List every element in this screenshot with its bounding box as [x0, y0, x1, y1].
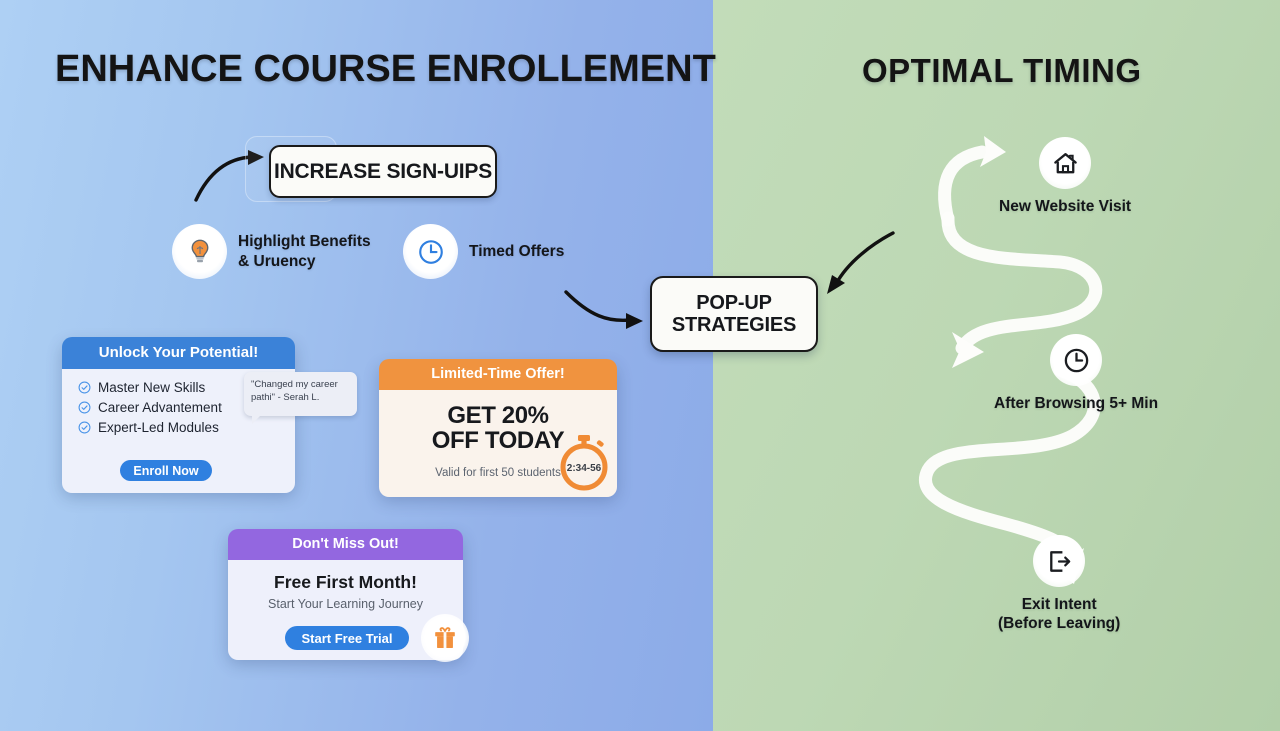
clock-icon-circle	[403, 224, 458, 279]
increase-signups-label: INCREASE SIGN-UIPS	[274, 160, 492, 184]
popup-strategies-hub[interactable]: POP-UP STRATEGIES	[650, 276, 818, 352]
popup-card-miss: Don't Miss Out! Free First Month! Start …	[228, 529, 463, 657]
hub-line1: POP-UP	[696, 292, 771, 314]
feature-timed-offers[interactable]: Timed Offers	[403, 224, 564, 279]
feature-label-line2: & Uruency	[238, 252, 371, 272]
feature-highlight-benefits[interactable]: Highlight Benefits & Uruency	[172, 224, 371, 279]
benefit-item-label: Master New Skills	[98, 380, 205, 395]
exit-door-icon	[1045, 547, 1074, 576]
timeline-label-exit-intent: Exit Intent (Before Leaving)	[998, 596, 1120, 634]
card-miss-body: Free First Month! Start Your Learning Jo…	[228, 560, 463, 660]
feature-label-timed: Timed Offers	[469, 242, 564, 262]
timeline-label-exit-line1: Exit Intent	[998, 596, 1120, 615]
lightbulb-icon	[185, 237, 215, 267]
gift-icon-circle	[421, 614, 469, 662]
increase-signups-box[interactable]: INCREASE SIGN-UIPS	[269, 145, 497, 198]
start-free-trial-button[interactable]: Start Free Trial	[285, 626, 409, 650]
card-miss-header: Don't Miss Out!	[228, 529, 463, 560]
timeline-node-new-visit[interactable]: New Website Visit	[999, 137, 1131, 217]
clock-icon	[1062, 346, 1091, 375]
offer-timer-value: 2:34-56	[567, 463, 602, 474]
stopwatch-icon: 2:34-56	[557, 433, 611, 493]
timeline-node-exit-intent[interactable]: Exit Intent (Before Leaving)	[998, 535, 1120, 634]
card-offer-header: Limited-Time Offer!	[379, 359, 617, 390]
offer-headline-line1: GET 20%	[379, 403, 617, 428]
miss-subtitle: Start Your Learning Journey	[228, 597, 463, 611]
infographic-canvas: ENHANCE COURSE ENROLLEMENT OPTIMAL TIMIN…	[0, 0, 1280, 731]
popup-card-unlock: Unlock Your Potential! Master New Skills…	[62, 337, 295, 490]
clock-icon	[416, 237, 446, 267]
home-icon	[1051, 149, 1080, 178]
card-unlock-header: Unlock Your Potential!	[62, 337, 295, 369]
timeline-node-browsing[interactable]: After Browsing 5+ Min	[994, 334, 1158, 414]
lightbulb-icon-circle	[172, 224, 227, 279]
left-panel-title: ENHANCE COURSE ENROLLEMENT	[55, 48, 716, 91]
check-circle-icon	[78, 401, 91, 414]
check-circle-icon	[78, 381, 91, 394]
benefit-item-label: Career Advantement	[98, 400, 222, 415]
miss-title: Free First Month!	[228, 572, 463, 593]
check-circle-icon	[78, 421, 91, 434]
enroll-now-button[interactable]: Enroll Now	[120, 460, 212, 481]
feature-label-line1: Highlight Benefits	[238, 232, 371, 252]
clock-icon-circle	[1050, 334, 1102, 386]
testimonial-bubble: "Changed my career pathi" - Serah L.	[244, 372, 357, 416]
right-panel-title: OPTIMAL TIMING	[862, 52, 1142, 90]
card-offer-body: GET 20% OFF TODAY Valid for first 50 stu…	[379, 390, 617, 497]
benefit-item: Expert-Led Modules	[78, 420, 295, 435]
popup-card-offer: Limited-Time Offer! GET 20% OFF TODAY Va…	[379, 359, 617, 494]
benefit-item-label: Expert-Led Modules	[98, 420, 219, 435]
timeline-label-new-visit: New Website Visit	[999, 198, 1131, 217]
gift-icon	[431, 624, 459, 652]
home-icon-circle	[1039, 137, 1091, 189]
exit-door-icon-circle	[1033, 535, 1085, 587]
hub-line2: STRATEGIES	[672, 314, 796, 336]
feature-label-benefits: Highlight Benefits & Uruency	[238, 232, 371, 272]
timeline-label-exit-line2: (Before Leaving)	[998, 615, 1120, 634]
timeline-label-browsing: After Browsing 5+ Min	[994, 395, 1158, 414]
